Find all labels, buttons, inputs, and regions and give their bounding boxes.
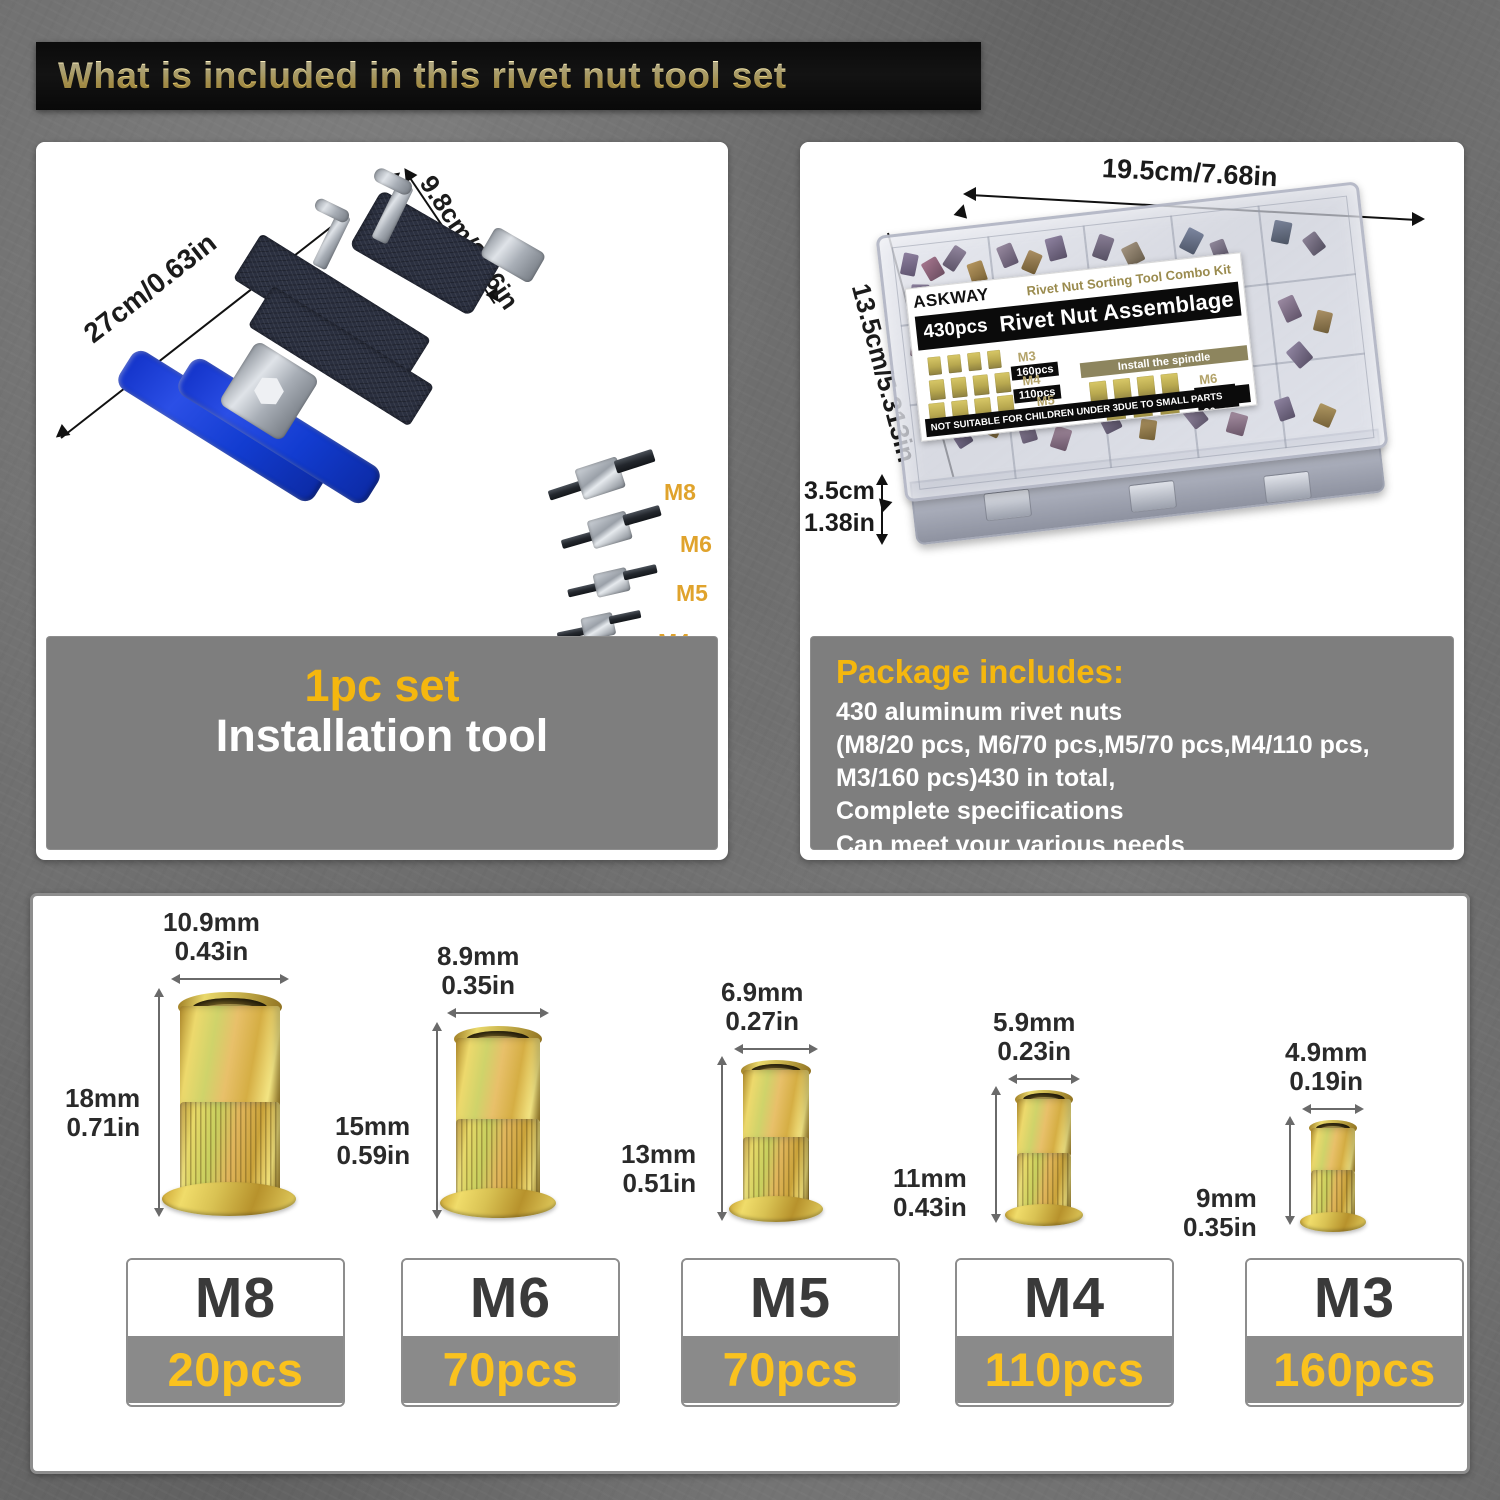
m6-diameter-arrow-left (447, 1008, 456, 1018)
m3-diameter-mm: 4.9mm (1285, 1037, 1367, 1067)
m5-count-text: 70pcs (723, 1342, 859, 1397)
mandrel-m4-thread (608, 610, 641, 624)
m5-diameter-dimension: 6.9mm 0.27in (721, 978, 803, 1036)
case-depth-dimension-in: 1.38in (804, 510, 875, 538)
case-latch-left (983, 488, 1032, 521)
total-pieces: 430pcs (922, 315, 988, 344)
m5-diameter-in: 0.27in (725, 1006, 799, 1036)
m3-height-dimension: 9mm 0.35in (1183, 1184, 1257, 1242)
m6-diameter-in: 0.35in (441, 970, 515, 1000)
m8-height-mm: 18mm (65, 1083, 140, 1113)
tool-quantity-label: 1pc set (46, 662, 718, 710)
rivet-nut-sizes-panel: 10.9mm 0.43in 18mm 0.71in M8 20pcs 8.9m (30, 893, 1470, 1474)
m3-diameter-in: 0.19in (1289, 1066, 1363, 1096)
mandrel-m5-thread (623, 564, 658, 580)
m3-flange (1300, 1212, 1366, 1232)
m6-flange (440, 1188, 556, 1218)
m8-diameter-in: 0.43in (175, 936, 249, 966)
m3-diameter-arrow-left (1302, 1104, 1311, 1114)
m8-height-dimension: 18mm 0.71in (65, 1084, 140, 1142)
tool-name-label: Installation tool (46, 710, 718, 761)
label-nut-icon (947, 354, 962, 373)
m8-diameter-line (178, 978, 282, 980)
storage-case-panel: 19.5cm/7.68in 13.5cm/5.313in 3.5cm 1.38i… (800, 142, 1464, 860)
case-latch-mid (1128, 480, 1177, 513)
m5-size-top: M5 (683, 1260, 898, 1336)
size-label-box-m4: M4 110pcs (955, 1258, 1174, 1407)
m6-diameter-arrow-right (540, 1008, 549, 1018)
m3-smooth-section (1311, 1128, 1355, 1174)
m5-height-in: 0.51in (622, 1168, 696, 1198)
package-line: (M8/20 pcs, M6/70 pcs,M5/70 pcs,M4/110 p… (836, 729, 1454, 762)
tool-image-stage: 27cm/0.63in 9.8cm/3.86in (36, 142, 728, 624)
m8-height-in: 0.71in (66, 1112, 140, 1142)
size-label-box-m5: M5 70pcs (681, 1258, 900, 1407)
size-column-m4: 5.9mm 0.23in 11mm 0.43in M4 110pcs (873, 896, 1158, 1471)
mandrel-m6-label: M6 (680, 531, 712, 558)
m5-height-arrow-bottom (717, 1212, 727, 1221)
m3-count-bottom: 160pcs (1247, 1336, 1462, 1403)
m5-count-bottom: 70pcs (683, 1336, 898, 1403)
m4-diameter-arrow-right (1071, 1074, 1080, 1084)
m6-count-text: 70pcs (443, 1342, 579, 1397)
m5-diameter-line (741, 1048, 811, 1050)
tool-caption-banner: 1pc set Installation tool (46, 636, 718, 850)
label-nut-icon (951, 377, 968, 399)
m8-size-top: M8 (128, 1260, 343, 1336)
m8-height-line (158, 994, 160, 1214)
mandrel-m8-thread (614, 449, 656, 474)
m8-flange (162, 1182, 296, 1216)
m3-height-line (1289, 1122, 1291, 1222)
m4-count-bottom: 110pcs (957, 1336, 1172, 1403)
storage-case-illustration: 19.5cm/7.68in 13.5cm/5.313in 3.5cm 1.38i… (800, 142, 1464, 624)
package-line: Can meet your various needs (836, 829, 1454, 860)
m6-height-mm: 15mm (335, 1111, 410, 1141)
package-includes-title: Package includes: (836, 652, 1454, 692)
page-title: What is included in this rivet nut tool … (58, 55, 786, 97)
size-label-box-m3: M3 160pcs (1245, 1258, 1464, 1407)
size-column-m5: 6.9mm 0.27in 13mm 0.51in M5 70pcs (593, 896, 878, 1471)
m3-size-top: M3 (1247, 1260, 1462, 1336)
m6-height-arrow-top (432, 1022, 442, 1031)
label-size-m3: M3 (1017, 348, 1037, 365)
case-width-arrow-right (1412, 212, 1425, 226)
m3-count-text: 160pcs (1273, 1342, 1435, 1397)
m4-diameter-mm: 5.9mm (993, 1007, 1075, 1037)
label-nut-icon (967, 352, 982, 371)
installation-tool-panel: 27cm/0.63in 9.8cm/3.86in (36, 142, 728, 860)
case-latch-right (1263, 471, 1312, 504)
m5-height-mm: 13mm (621, 1139, 696, 1169)
mandrel-m6-thread (622, 505, 662, 526)
case-image-stage: 19.5cm/7.68in 13.5cm/5.313in 3.5cm 1.38i… (800, 142, 1464, 624)
label-nut-icon (987, 350, 1002, 369)
m6-diameter-line (454, 1012, 542, 1014)
m8-smooth-section (180, 1006, 280, 1108)
m6-height-line (436, 1028, 438, 1216)
m3-diameter-line (1309, 1108, 1357, 1110)
size-label-box-m6: M6 70pcs (401, 1258, 620, 1407)
m3-diameter-dimension: 4.9mm 0.19in (1285, 1038, 1367, 1096)
m5-flange (729, 1196, 823, 1222)
m4-count-text: 110pcs (985, 1342, 1145, 1397)
m5-height-arrow-top (717, 1056, 727, 1065)
case-height-arrow-bottom (876, 498, 893, 514)
m8-count-text: 20pcs (168, 1342, 304, 1397)
m5-height-dimension: 13mm 0.51in (621, 1140, 696, 1198)
m6-count-bottom: 70pcs (403, 1336, 618, 1403)
label-nut-icon (994, 372, 1011, 394)
m4-height-arrow-bottom (991, 1214, 1001, 1223)
m4-diameter-dimension: 5.9mm 0.23in (993, 1008, 1075, 1066)
brand-name: ASKWAY (912, 285, 990, 312)
package-line: M3/160 pcs)430 in total, (836, 762, 1454, 795)
size-column-m6: 8.9mm 0.35in 15mm 0.59in M6 70pcs (313, 896, 598, 1471)
label-nut-icon (972, 374, 989, 396)
m5-diameter-arrow-left (734, 1044, 743, 1054)
m5-height-line (721, 1062, 723, 1218)
m6-smooth-section (456, 1038, 540, 1124)
m8-diameter-arrow-left (171, 974, 180, 984)
m8-height-arrow-top (154, 988, 164, 997)
m6-height-in: 0.59in (336, 1140, 410, 1170)
gun-head (349, 189, 503, 316)
package-line: 430 aluminum rivet nuts (836, 696, 1454, 729)
m3-height-mm: 9mm (1196, 1183, 1257, 1213)
package-caption-banner: Package includes: 430 aluminum rivet nut… (810, 636, 1454, 850)
m4-diameter-in: 0.23in (997, 1036, 1071, 1066)
m4-height-dimension: 11mm 0.43in (893, 1164, 967, 1222)
m6-height-arrow-bottom (432, 1210, 442, 1219)
case-height-arrow-top (954, 202, 971, 218)
size-column-m3: 4.9mm 0.19in 9mm 0.35in M3 160pcs (1145, 896, 1465, 1471)
length-arrow-head-bottom (52, 424, 71, 443)
package-line: Complete specifications (836, 795, 1454, 828)
m4-height-mm: 11mm (893, 1163, 967, 1193)
m8-size-text: M8 (195, 1265, 276, 1331)
m3-height-arrow-top (1285, 1116, 1295, 1125)
rivet-gun-illustration: 27cm/0.63in 9.8cm/3.86in (36, 142, 728, 624)
case-width-arrow-left (963, 187, 976, 201)
m4-size-text: M4 (1024, 1265, 1105, 1331)
m3-diameter-arrow-right (1355, 1104, 1364, 1114)
m4-smooth-section (1017, 1099, 1071, 1157)
m6-diameter-dimension: 8.9mm 0.35in (437, 942, 519, 1000)
m4-diameter-arrow-left (1008, 1074, 1017, 1084)
case-depth-arrow-bottom (876, 534, 888, 545)
mandrel-m8-label: M8 (664, 479, 696, 506)
case-contents (1139, 419, 1157, 441)
m6-size-text: M6 (470, 1265, 551, 1331)
m6-size-top: M6 (403, 1260, 618, 1336)
case-depth-dimension-cm: 3.5cm (804, 478, 875, 506)
case-width-dimension: 19.5cm/7.68in (1101, 154, 1278, 193)
m6-diameter-mm: 8.9mm (437, 941, 519, 971)
m6-height-dimension: 15mm 0.59in (335, 1112, 410, 1170)
m4-height-in: 0.43in (893, 1192, 967, 1222)
m4-height-arrow-top (991, 1086, 1001, 1095)
m3-height-in: 0.35in (1183, 1212, 1257, 1242)
title-bar: What is included in this rivet nut tool … (36, 42, 981, 110)
m3-height-arrow-bottom (1285, 1216, 1295, 1225)
m8-height-arrow-bottom (154, 1208, 164, 1217)
m4-flange (1005, 1204, 1083, 1226)
case-depth-dim-line (881, 483, 883, 541)
m4-size-top: M4 (957, 1260, 1172, 1336)
m5-size-text: M5 (750, 1265, 831, 1331)
m5-diameter-arrow-right (809, 1044, 818, 1054)
m8-count-bottom: 20pcs (128, 1336, 343, 1403)
size-column-m8: 10.9mm 0.43in 18mm 0.71in M8 20pcs (33, 896, 323, 1471)
tool-length-dimension: 27cm/0.63in (79, 228, 223, 350)
m4-diameter-line (1015, 1078, 1073, 1080)
mandrel-m5-label: M5 (676, 580, 708, 607)
label-nut-icon (929, 379, 946, 401)
case-depth-arrow-top (876, 474, 888, 485)
m8-diameter-dimension: 10.9mm 0.43in (163, 908, 260, 966)
m4-height-line (995, 1092, 997, 1220)
label-nut-icon (927, 356, 942, 375)
m3-size-text: M3 (1314, 1265, 1395, 1331)
m5-smooth-section (743, 1070, 809, 1142)
m8-diameter-mm: 10.9mm (163, 907, 260, 937)
m8-diameter-arrow-right (280, 974, 289, 984)
m5-diameter-mm: 6.9mm (721, 977, 803, 1007)
